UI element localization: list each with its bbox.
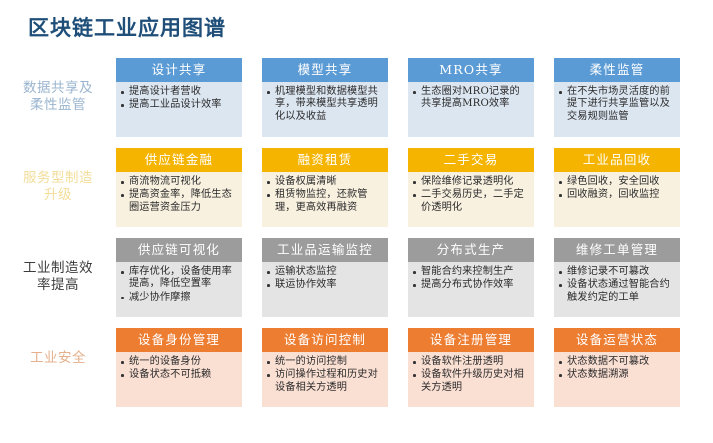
- row-category-label-text: 工业制造效率提高: [0, 260, 116, 294]
- card-bullet-item: 统一的访问控制: [267, 356, 383, 368]
- application-card[interactable]: 模型共享机理模型和数据模型共享，带来模型共享透明化以及收益: [262, 58, 388, 137]
- card-body: 智能合约来控制生产提高分布式协作效率: [408, 262, 534, 317]
- card-bullet-item: 提高设计者营收: [121, 86, 237, 98]
- card-body: 绿色回收，安全回收回收融资，回收监控: [554, 172, 680, 227]
- card-track: 设计共享提高设计者营收提高工业品设计效率模型共享机理模型和数据模型共享，带来模型…: [116, 58, 713, 137]
- card-bullet-item: 二手交易历史，二手定价透明化: [413, 189, 529, 214]
- row-category-label: 工业安全: [0, 328, 116, 367]
- card-bullet-list: 设备权属清晰租赁物监控，还款管理，更高效再融资: [267, 176, 383, 214]
- card-body: 统一的设备身份设备状态不可抵赖: [116, 352, 242, 407]
- card-body: 运输状态监控联运协作效率: [262, 262, 388, 317]
- card-header: 设备身份管理: [116, 328, 242, 352]
- matrix-row: 服务型制造升级供应链金融商流物流可视化提高资金率，降低生态圈运营资金压力融资租赁…: [0, 148, 713, 238]
- card-header: 工业品运输监控: [262, 238, 388, 262]
- card-body: 统一的访问控制访问操作过程和历史对设备相关方透明: [262, 352, 388, 407]
- card-bullet-item: 智能合约来控制生产: [413, 266, 529, 278]
- card-header: 模型共享: [262, 58, 388, 82]
- row-category-label-text: 数据共享及柔性监管: [0, 80, 116, 114]
- application-card[interactable]: 供应链可视化库存优化，设备使用率提高，降低空置率减少协作摩擦: [116, 238, 242, 317]
- card-body: 提高设计者营收提高工业品设计效率: [116, 82, 242, 137]
- application-card[interactable]: 设计共享提高设计者营收提高工业品设计效率: [116, 58, 242, 137]
- card-bullet-list: 设备软件注册透明设备软件升级历史对相关方透明: [413, 356, 529, 394]
- card-header: 柔性监管: [554, 58, 680, 82]
- page-title: 区块链工业应用图谱: [28, 12, 226, 42]
- application-card[interactable]: 分布式生产智能合约来控制生产提高分布式协作效率: [408, 238, 534, 317]
- card-bullet-list: 绿色回收，安全回收回收融资，回收监控: [559, 176, 675, 202]
- card-header: 维修工单管理: [554, 238, 680, 262]
- card-header: 工业品回收: [554, 148, 680, 172]
- application-card[interactable]: 工业品运输监控运输状态监控联运协作效率: [262, 238, 388, 317]
- card-bullet-list: 保险维修记录透明化二手交易历史，二手定价透明化: [413, 176, 529, 214]
- card-bullet-item: 回收融资，回收监控: [559, 189, 675, 201]
- card-bullet-item: 机理模型和数据模型共享，带来模型共享透明化以及收益: [267, 86, 383, 123]
- application-card[interactable]: 设备身份管理统一的设备身份设备状态不可抵赖: [116, 328, 242, 407]
- row-category-label-text: 服务型制造升级: [0, 170, 116, 204]
- application-card[interactable]: 融资租赁设备权属清晰租赁物监控，还款管理，更高效再融资: [262, 148, 388, 227]
- row-category-label-text: 工业安全: [0, 350, 116, 367]
- card-bullet-item: 访问操作过程和历史对设备相关方透明: [267, 369, 383, 394]
- application-card[interactable]: 工业品回收绿色回收，安全回收回收融资，回收监控: [554, 148, 680, 227]
- card-bullet-list: 机理模型和数据模型共享，带来模型共享透明化以及收益: [267, 86, 383, 123]
- card-header: 融资租赁: [262, 148, 388, 172]
- card-body: 保险维修记录透明化二手交易历史，二手定价透明化: [408, 172, 534, 227]
- application-card[interactable]: 二手交易保险维修记录透明化二手交易历史，二手定价透明化: [408, 148, 534, 227]
- card-bullet-list: 统一的访问控制访问操作过程和历史对设备相关方透明: [267, 356, 383, 394]
- card-bullet-list: 维修记录不可篡改设备状态通过智能合约触发约定的工单: [559, 266, 675, 304]
- card-header: 设备运营状态: [554, 328, 680, 352]
- card-bullet-item: 保险维修记录透明化: [413, 176, 529, 188]
- card-bullet-item: 提高资金率，降低生态圈运营资金压力: [121, 189, 237, 214]
- card-track: 设备身份管理统一的设备身份设备状态不可抵赖设备访问控制统一的访问控制访问操作过程…: [116, 328, 713, 407]
- card-bullet-item: 联运协作效率: [267, 279, 383, 291]
- card-bullet-item: 设备软件升级历史对相关方透明: [413, 369, 529, 394]
- matrix-row: 数据共享及柔性监管设计共享提高设计者营收提高工业品设计效率模型共享机理模型和数据…: [0, 58, 713, 148]
- card-bullet-list: 运输状态监控联运协作效率: [267, 266, 383, 292]
- card-body: 设备权属清晰租赁物监控，还款管理，更高效再融资: [262, 172, 388, 227]
- card-body: 机理模型和数据模型共享，带来模型共享透明化以及收益: [262, 82, 388, 137]
- card-body: 在不失市场灵活度的前提下进行共享监管以及交易规则监管: [554, 82, 680, 137]
- card-body: 库存优化，设备使用率提高，降低空置率减少协作摩擦: [116, 262, 242, 317]
- application-card[interactable]: 设备运营状态状态数据不可篡改状态数据溯源: [554, 328, 680, 407]
- card-bullet-list: 状态数据不可篡改状态数据溯源: [559, 356, 675, 382]
- card-bullet-item: 在不失市场灵活度的前提下进行共享监管以及交易规则监管: [559, 86, 675, 123]
- card-body: 设备软件注册透明设备软件升级历史对相关方透明: [408, 352, 534, 407]
- row-category-label: 服务型制造升级: [0, 148, 116, 204]
- card-header: 设备访问控制: [262, 328, 388, 352]
- card-bullet-item: 减少协作摩擦: [121, 292, 237, 304]
- card-bullet-item: 绿色回收，安全回收: [559, 176, 675, 188]
- card-header: 设计共享: [116, 58, 242, 82]
- card-header: MRO共享: [408, 58, 534, 82]
- card-bullet-item: 状态数据溯源: [559, 369, 675, 381]
- card-header: 设备注册管理: [408, 328, 534, 352]
- card-bullet-list: 智能合约来控制生产提高分布式协作效率: [413, 266, 529, 292]
- card-bullet-item: 生态圈对MRO记录的共享提高MRO效率: [413, 86, 529, 111]
- card-bullet-item: 商流物流可视化: [121, 176, 237, 188]
- application-card[interactable]: 设备注册管理设备软件注册透明设备软件升级历史对相关方透明: [408, 328, 534, 407]
- card-bullet-item: 库存优化，设备使用率提高，降低空置率: [121, 266, 237, 291]
- application-card[interactable]: 设备访问控制统一的访问控制访问操作过程和历史对设备相关方透明: [262, 328, 388, 407]
- card-bullet-item: 运输状态监控: [267, 266, 383, 278]
- card-bullet-item: 设备权属清晰: [267, 176, 383, 188]
- card-body: 生态圈对MRO记录的共享提高MRO效率: [408, 82, 534, 137]
- card-track: 供应链金融商流物流可视化提高资金率，降低生态圈运营资金压力融资租赁设备权属清晰租…: [116, 148, 713, 227]
- card-body: 状态数据不可篡改状态数据溯源: [554, 352, 680, 407]
- card-bullet-item: 状态数据不可篡改: [559, 356, 675, 368]
- card-header: 二手交易: [408, 148, 534, 172]
- card-header: 分布式生产: [408, 238, 534, 262]
- card-header: 供应链金融: [116, 148, 242, 172]
- row-category-label: 数据共享及柔性监管: [0, 58, 116, 114]
- card-bullet-list: 在不失市场灵活度的前提下进行共享监管以及交易规则监管: [559, 86, 675, 123]
- application-card[interactable]: 维修工单管理维修记录不可篡改设备状态通过智能合约触发约定的工单: [554, 238, 680, 317]
- application-card[interactable]: MRO共享生态圈对MRO记录的共享提高MRO效率: [408, 58, 534, 137]
- card-bullet-list: 提高设计者营收提高工业品设计效率: [121, 86, 237, 112]
- card-bullet-list: 商流物流可视化提高资金率，降低生态圈运营资金压力: [121, 176, 237, 214]
- card-bullet-list: 库存优化，设备使用率提高，降低空置率减少协作摩擦: [121, 266, 237, 304]
- application-card[interactable]: 供应链金融商流物流可视化提高资金率，降低生态圈运营资金压力: [116, 148, 242, 227]
- card-track: 供应链可视化库存优化，设备使用率提高，降低空置率减少协作摩擦工业品运输监控运输状…: [116, 238, 713, 317]
- card-bullet-list: 统一的设备身份设备状态不可抵赖: [121, 356, 237, 382]
- row-category-label: 工业制造效率提高: [0, 238, 116, 294]
- application-card[interactable]: 柔性监管在不失市场灵活度的前提下进行共享监管以及交易规则监管: [554, 58, 680, 137]
- card-body: 维修记录不可篡改设备状态通过智能合约触发约定的工单: [554, 262, 680, 317]
- card-header: 供应链可视化: [116, 238, 242, 262]
- card-bullet-item: 统一的设备身份: [121, 356, 237, 368]
- card-bullet-item: 提高工业品设计效率: [121, 99, 237, 111]
- card-bullet-item: 租赁物监控，还款管理，更高效再融资: [267, 189, 383, 214]
- card-bullet-list: 生态圈对MRO记录的共享提高MRO效率: [413, 86, 529, 111]
- matrix-grid: 数据共享及柔性监管设计共享提高设计者营收提高工业品设计效率模型共享机理模型和数据…: [0, 58, 713, 418]
- card-bullet-item: 设备状态通过智能合约触发约定的工单: [559, 279, 675, 304]
- matrix-row: 工业制造效率提高供应链可视化库存优化，设备使用率提高，降低空置率减少协作摩擦工业…: [0, 238, 713, 328]
- card-bullet-item: 提高分布式协作效率: [413, 279, 529, 291]
- infographic-canvas: 区块链工业应用图谱 数据共享及柔性监管设计共享提高设计者营收提高工业品设计效率模…: [0, 0, 713, 443]
- matrix-row: 工业安全设备身份管理统一的设备身份设备状态不可抵赖设备访问控制统一的访问控制访问…: [0, 328, 713, 418]
- card-bullet-item: 维修记录不可篡改: [559, 266, 675, 278]
- card-body: 商流物流可视化提高资金率，降低生态圈运营资金压力: [116, 172, 242, 227]
- card-bullet-item: 设备软件注册透明: [413, 356, 529, 368]
- card-bullet-item: 设备状态不可抵赖: [121, 369, 237, 381]
